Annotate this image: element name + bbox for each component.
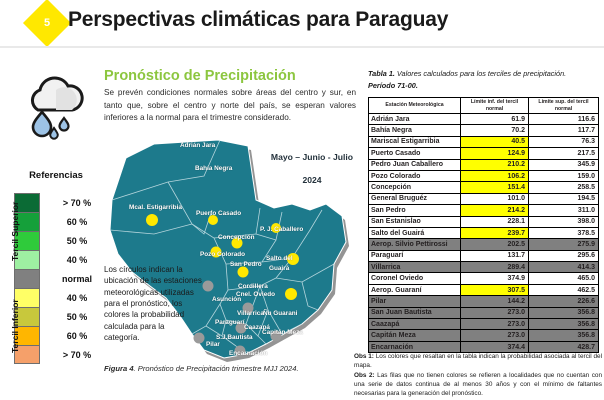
table-row: Paraguarí131.7295.6 <box>369 250 599 261</box>
table-caption-text: Valores calculados para los terciles de … <box>395 69 566 78</box>
map-station-label: Paraguarí <box>215 319 244 326</box>
page-header: 5 Perspectivas climáticas para Paraguay <box>0 0 604 46</box>
cell-lower-limit: 374.4 <box>461 341 529 352</box>
map-station-marker[interactable] <box>146 214 158 226</box>
map-station-label: Salto del <box>266 255 293 262</box>
cell-station: Pilar <box>369 296 461 307</box>
observation-note: Obs 1: Los colores que resaltan en la ta… <box>354 352 602 370</box>
cell-upper-limit: 465.0 <box>529 273 599 284</box>
map-station-marker[interactable] <box>203 281 214 292</box>
table-row: Pozo Colorado106.2159.0 <box>369 170 599 181</box>
table-row: Capitán Meza273.0356.8 <box>369 330 599 341</box>
table-observations: Obs 1: Los colores que resaltan en la ta… <box>354 352 602 399</box>
cell-upper-limit: 76.3 <box>529 136 599 147</box>
cell-upper-limit: 398.0 <box>529 216 599 227</box>
cell-upper-limit: 159.0 <box>529 170 599 181</box>
table-row: Encarnación374.4428.7 <box>369 341 599 352</box>
forecast-period: Mayo – Junio - Julio 2024 <box>258 152 366 185</box>
map-station-label: Cnel. Oviedo <box>236 291 275 298</box>
cell-lower-limit: 101.0 <box>461 193 529 204</box>
table-row: San Juan Bautista273.0356.8 <box>369 307 599 318</box>
map-station-label: Ñu Guarani <box>263 310 297 317</box>
observation-label: Obs 1: <box>354 353 374 360</box>
cell-station: Caazapá <box>369 319 461 330</box>
cell-lower-limit: 273.0 <box>461 319 529 330</box>
map-station-marker[interactable] <box>285 288 297 300</box>
map-station-label: Concepción <box>218 234 255 241</box>
map-station-label: Capitán Meza <box>262 329 303 336</box>
figure-caption-label: Figura 4 <box>104 364 134 373</box>
tercile-table-wrapper: Estación Meteorológica Límite inf. del t… <box>368 97 598 353</box>
table-row: Mariscal Estigarribia40.576.3 <box>369 136 599 147</box>
map-station-label: Puerto Casado <box>196 210 241 217</box>
cell-upper-limit: 311.0 <box>529 205 599 216</box>
table-row: Caazapá273.0356.8 <box>369 319 599 330</box>
cell-upper-limit: 116.6 <box>529 114 599 125</box>
cell-upper-limit: 462.5 <box>529 284 599 295</box>
map-circle-note: Los círculos indican la ubicación de las… <box>104 264 202 344</box>
legend-group-lower: Tercil Inferior <box>10 288 29 364</box>
table-row: San Estanislao228.1398.0 <box>369 216 599 227</box>
forecast-period-months: Mayo – Junio - Julio <box>258 152 366 162</box>
cell-station: Mariscal Estigarribia <box>369 136 461 147</box>
column-header-upper-limit: Límite sup. del tercil normal <box>529 98 599 114</box>
cell-station: Puerto Casado <box>369 148 461 159</box>
table-caption-period: Período 71-00. <box>368 81 418 90</box>
table-row: Aerop. Silvio Pettirossi202.5275.9 <box>369 239 599 250</box>
cell-lower-limit: 374.9 <box>461 273 529 284</box>
cell-station: Bahía Negra <box>369 125 461 136</box>
map-station-label: Mcal. Estigarribia <box>129 204 182 211</box>
cell-upper-limit: 258.5 <box>529 182 599 193</box>
map-station-label: Encarnación <box>229 350 267 357</box>
map-station-marker[interactable] <box>238 267 249 278</box>
table-row: Aerop. Guaraní307.5462.5 <box>369 284 599 295</box>
legend-group-upper: Tercil Superior <box>10 193 29 269</box>
map-station-label: Pozo Colorado <box>200 251 245 258</box>
cell-upper-limit: 428.7 <box>529 341 599 352</box>
cell-upper-limit: 356.8 <box>529 319 599 330</box>
cell-upper-limit: 275.9 <box>529 239 599 250</box>
cell-upper-limit: 356.8 <box>529 330 599 341</box>
table-row: Pedro Juan Caballero210.2345.9 <box>369 159 599 170</box>
cell-lower-limit: 239.7 <box>461 227 529 238</box>
table-row: Concepción151.4258.5 <box>369 182 599 193</box>
cell-station: Encarnación <box>369 341 461 352</box>
cell-lower-limit: 228.1 <box>461 216 529 227</box>
map-station-label: Adrián Jara <box>180 142 215 149</box>
cell-station: Concepción <box>369 182 461 193</box>
cell-lower-limit: 40.5 <box>461 136 529 147</box>
cell-station: San Pedro <box>369 205 461 216</box>
cell-upper-limit: 194.5 <box>529 193 599 204</box>
cell-station: Villarrica <box>369 262 461 273</box>
map-station-label: Bahía Negra <box>195 165 232 172</box>
table-row: Bahía Negra70.2117.7 <box>369 125 599 136</box>
section-number: 5 <box>30 6 64 40</box>
cell-station: San Juan Bautista <box>369 307 461 318</box>
figure-caption-text: . Pronóstico de Precipitación trimestre … <box>134 364 299 373</box>
cell-station: Coronel Oviedo <box>369 273 461 284</box>
cell-upper-limit: 295.6 <box>529 250 599 261</box>
cell-lower-limit: 151.4 <box>461 182 529 193</box>
map-station-label: Asunción <box>212 296 241 303</box>
header-divider <box>0 46 604 48</box>
table-row: San Pedro214.2311.0 <box>369 205 599 216</box>
table-header-row: Estación Meteorológica Límite inf. del t… <box>369 98 599 114</box>
cell-station: Pedro Juan Caballero <box>369 159 461 170</box>
table-caption-label: Tabla 1. <box>368 69 395 78</box>
map-station-label: Guairá <box>269 265 289 272</box>
forecast-body: Se prevén condiciones normales sobre áre… <box>104 87 356 125</box>
map-station-label: Pilar <box>206 341 220 348</box>
cell-lower-limit: 210.2 <box>461 159 529 170</box>
map-station-label: San Pedro <box>230 261 262 268</box>
cell-upper-limit: 378.5 <box>529 227 599 238</box>
cell-lower-limit: 106.2 <box>461 170 529 181</box>
legend-title: Referencias <box>6 170 106 181</box>
map-station-label: Cordillera <box>238 283 268 290</box>
table-row: Pilar144.2226.6 <box>369 296 599 307</box>
cell-station: Aerop. Silvio Pettirossi <box>369 239 461 250</box>
cell-station: San Estanislao <box>369 216 461 227</box>
map-station-label: P. J. Caballero <box>260 226 303 233</box>
column-header-lower-limit: Límite inf. del tercil normal <box>461 98 529 114</box>
table-row: Puerto Casado124.9217.5 <box>369 148 599 159</box>
cell-lower-limit: 273.0 <box>461 307 529 318</box>
cell-lower-limit: 144.2 <box>461 296 529 307</box>
cell-upper-limit: 356.8 <box>529 307 599 318</box>
cell-station: General Bruguéz <box>369 193 461 204</box>
table-row: Adrián Jara61.9116.6 <box>369 114 599 125</box>
cell-upper-limit: 345.9 <box>529 159 599 170</box>
observation-text: Los colores que resaltan en la tabla ind… <box>354 353 602 369</box>
map-station-label: S.J.Bautista <box>216 334 253 341</box>
cell-upper-limit: 217.5 <box>529 148 599 159</box>
cell-lower-limit: 289.4 <box>461 262 529 273</box>
cell-lower-limit: 307.5 <box>461 284 529 295</box>
column-header-station: Estación Meteorológica <box>369 98 461 114</box>
cell-upper-limit: 226.6 <box>529 296 599 307</box>
cell-station: Salto del Guairá <box>369 227 461 238</box>
table-row: General Bruguéz101.0194.5 <box>369 193 599 204</box>
cell-upper-limit: 414.3 <box>529 262 599 273</box>
observation-text: Las filas que no tienen colores se refie… <box>354 372 602 397</box>
cell-lower-limit: 202.5 <box>461 239 529 250</box>
table-row: Villarrica289.4414.3 <box>369 262 599 273</box>
rain-cloud-icon <box>16 76 96 142</box>
cell-lower-limit: 214.2 <box>461 205 529 216</box>
cell-station: Adrián Jara <box>369 114 461 125</box>
observation-label: Obs 2: <box>354 372 375 379</box>
forecast-period-year: 2024 <box>258 175 366 185</box>
legend-swatch <box>14 269 40 288</box>
cell-lower-limit: 61.9 <box>461 114 529 125</box>
page-title: Perspectivas climáticas para Paraguay <box>68 8 448 32</box>
cell-lower-limit: 273.0 <box>461 330 529 341</box>
cell-station: Aerop. Guaraní <box>369 284 461 295</box>
table-row: Coronel Oviedo374.9465.0 <box>369 273 599 284</box>
cell-station: Pozo Colorado <box>369 170 461 181</box>
table-caption: Tabla 1. Valores calculados para los ter… <box>368 68 600 93</box>
tercile-table: Estación Meteorológica Límite inf. del t… <box>368 97 599 353</box>
cell-lower-limit: 70.2 <box>461 125 529 136</box>
figure-caption: Figura 4. Pronóstico de Precipitación tr… <box>104 364 354 373</box>
cell-upper-limit: 117.7 <box>529 125 599 136</box>
forecast-title: Pronóstico de Precipitación <box>104 68 296 84</box>
cell-station: Capitán Meza <box>369 330 461 341</box>
observation-note: Obs 2: Las filas que no tienen colores s… <box>354 371 602 398</box>
map-station-label: Villarrica <box>237 310 264 317</box>
cell-lower-limit: 131.7 <box>461 250 529 261</box>
cell-station: Paraguarí <box>369 250 461 261</box>
table-row: Salto del Guairá239.7378.5 <box>369 227 599 238</box>
cell-lower-limit: 124.9 <box>461 148 529 159</box>
